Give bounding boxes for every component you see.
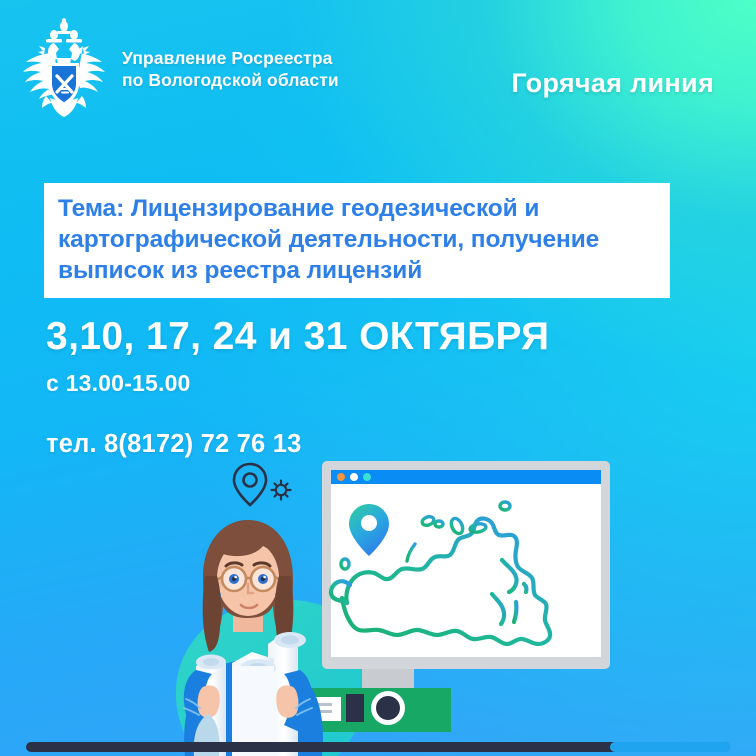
schedule-time: с 13.00-15.00 (46, 370, 666, 397)
contact-phone: тел. 8(8172) 72 76 13 (46, 430, 666, 459)
poster-header: Управление Росреестра по Вологодской обл… (0, 0, 756, 145)
logo-block: Управление Росреестра по Вологодской обл… (16, 18, 339, 122)
topic-text: Тема: Лицензирование геодезической и кар… (58, 193, 656, 286)
monitor-window-titlebar (331, 470, 601, 484)
illustration (0, 456, 756, 756)
window-dot-white (350, 473, 358, 481)
monitor (322, 461, 610, 721)
window-dot-cyan (363, 473, 371, 481)
organization-name: Управление Росреестра по Вологодской обл… (122, 48, 339, 92)
location-pin-icon (234, 464, 266, 505)
gear-icon (272, 481, 291, 500)
topic-box: Тема: Лицензирование геодезической и кар… (44, 183, 670, 298)
illustration-svg (0, 456, 756, 756)
poster-canvas: Управление Росреестра по Вологодской обл… (0, 0, 756, 756)
rosreestr-eagle-emblem-icon (16, 18, 112, 122)
schedule-block: 3,10, 17, 24 и 31 ОКТЯБРЯ с 13.00-15.00 … (46, 316, 666, 459)
desk-edge-accent (610, 742, 730, 752)
window-dot-orange (337, 473, 345, 481)
schedule-dates: 3,10, 17, 24 и 31 ОКТЯБРЯ (46, 316, 666, 358)
hotline-title: Горячая линия (511, 68, 714, 99)
